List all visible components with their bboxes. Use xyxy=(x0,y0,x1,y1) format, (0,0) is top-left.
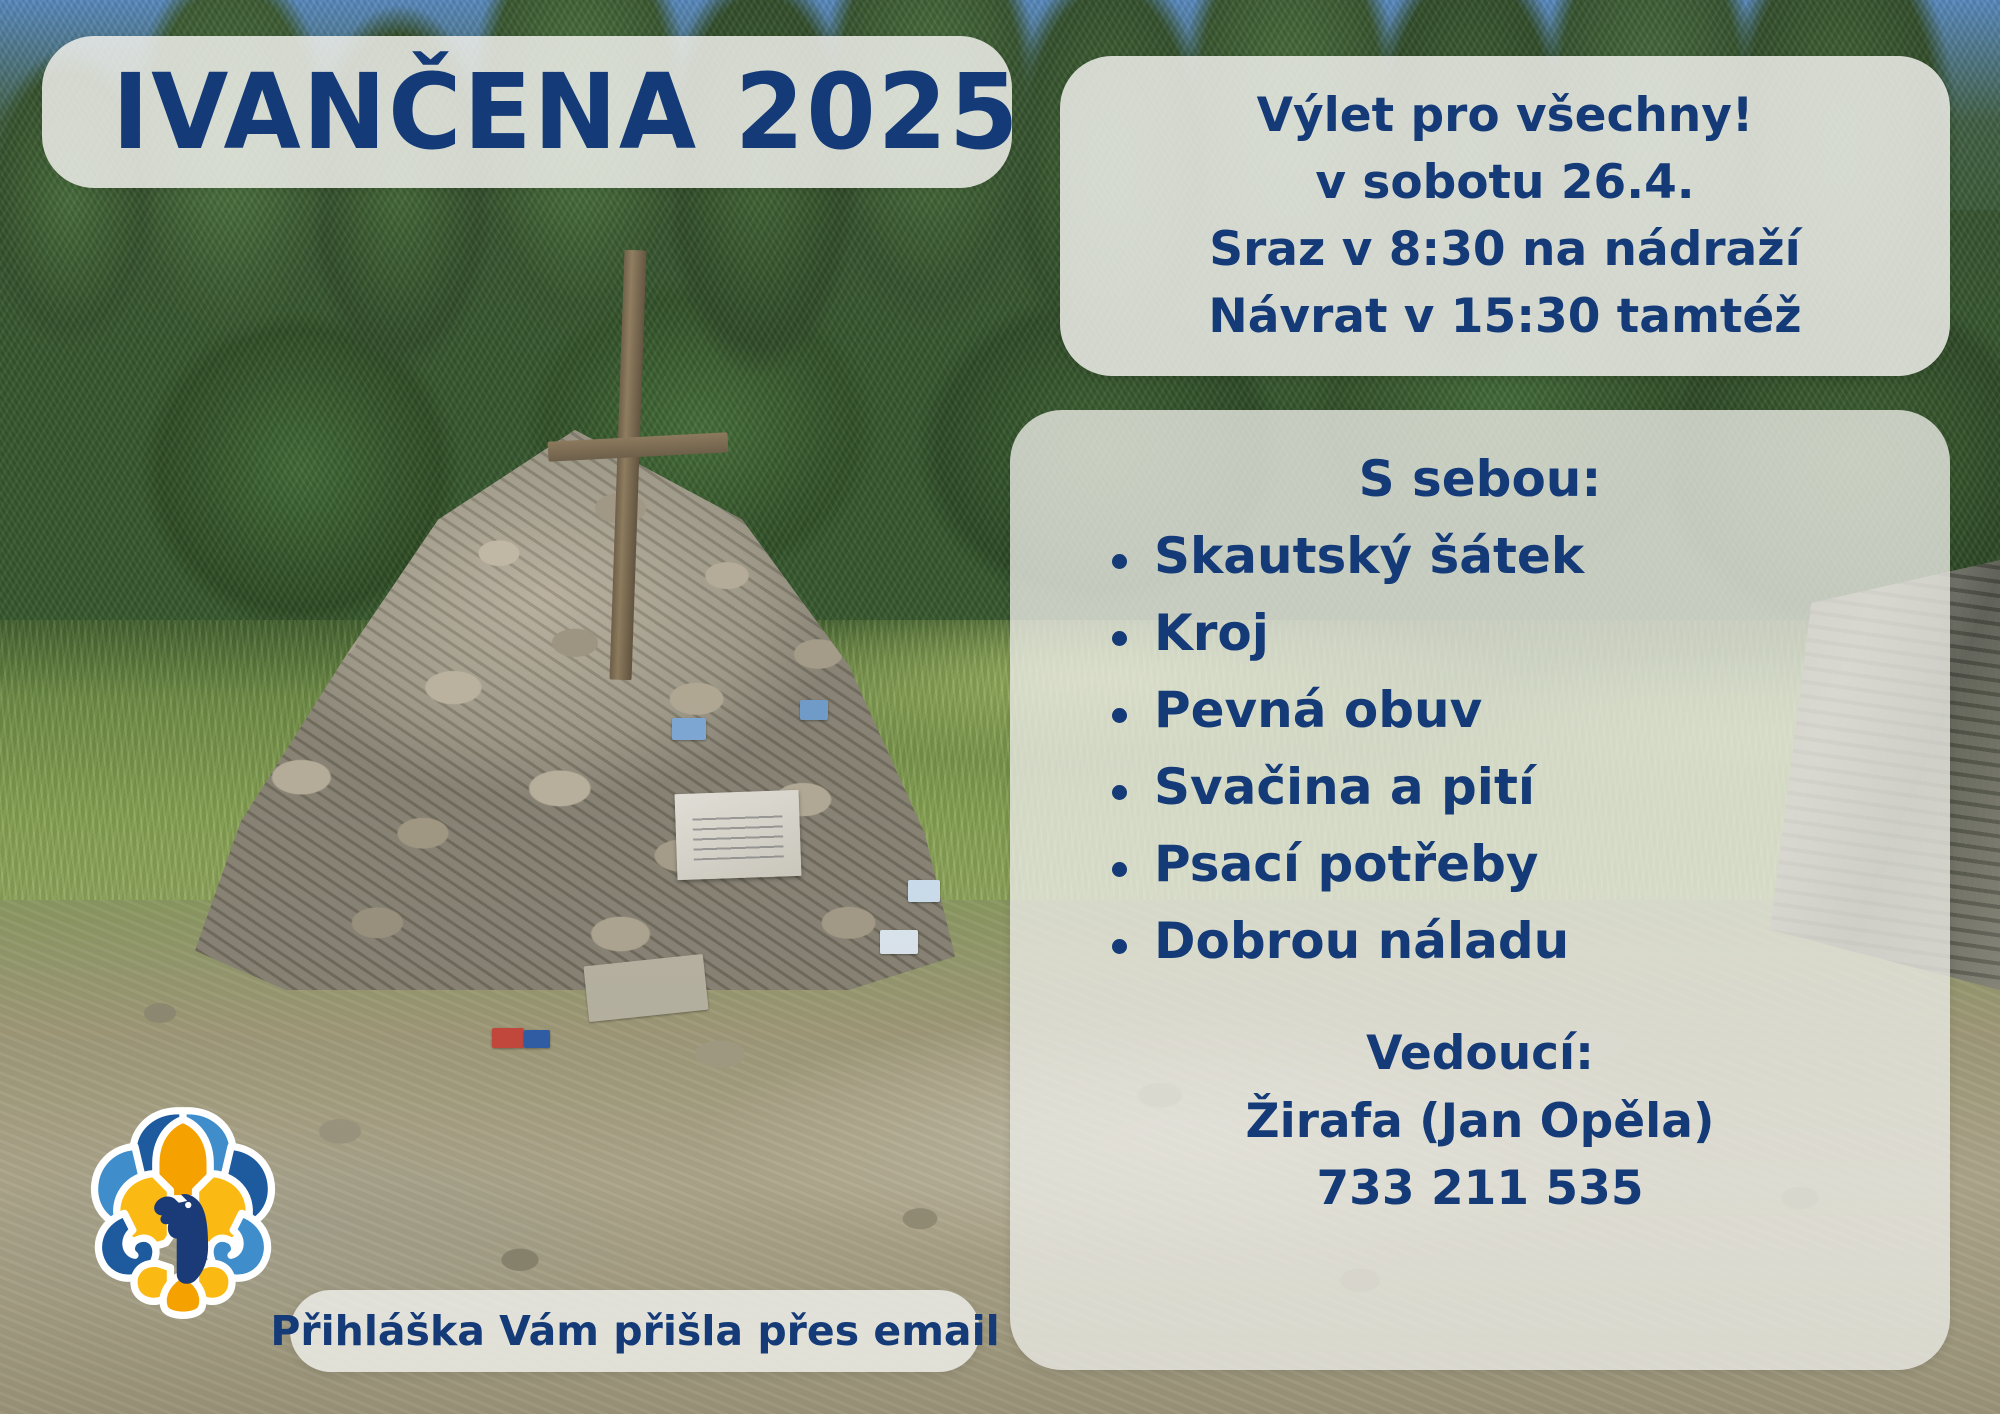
memorial-plaque xyxy=(675,790,802,880)
leader-name: Žirafa (Jan Opěla) xyxy=(1050,1088,1910,1156)
email-note-text: Přihláška Vám přišla přes email xyxy=(270,1307,999,1355)
list-item: Dobrou náladu xyxy=(1106,909,1584,974)
scout-lily-wolf-icon xyxy=(78,1090,288,1320)
info-line-return: Návrat v 15:30 tamtéž xyxy=(1208,286,1801,347)
poster-root: IVANČENA 2025 Výlet pro všechny! v sobot… xyxy=(0,0,2000,1414)
info-line-invitation: Výlet pro všechny! xyxy=(1257,85,1754,146)
packing-list-panel: S sebou: Skautský šátek Kroj Pevná obuv … xyxy=(1010,410,1950,1370)
info-line-meeting: Sraz v 8:30 na nádraží xyxy=(1209,219,1800,280)
votive-chip xyxy=(672,718,706,740)
list-item: Kroj xyxy=(1106,601,1584,666)
leader-phone[interactable]: 733 211 535 xyxy=(1050,1155,1910,1223)
email-note-panel: Přihláška Vám přišla přes email xyxy=(290,1290,980,1372)
list-item: Psací potřeby xyxy=(1106,832,1584,897)
list-item: Svačina a pití xyxy=(1106,755,1584,820)
packing-list: Skautský šátek Kroj Pevná obuv Svačina a… xyxy=(1050,524,1584,986)
leader-heading: Vedoucí: xyxy=(1050,1020,1910,1088)
leader-contact-block: Vedoucí: Žirafa (Jan Opěla) 733 211 535 xyxy=(1050,1020,1910,1223)
votive-chip xyxy=(524,1030,550,1048)
packing-list-heading: S sebou: xyxy=(1359,450,1602,508)
list-item: Skautský šátek xyxy=(1106,524,1584,589)
votive-chip xyxy=(492,1028,524,1048)
votive-chip xyxy=(880,930,918,954)
info-line-date: v sobotu 26.4. xyxy=(1315,152,1694,213)
wolf-eye-icon xyxy=(185,1202,191,1208)
page-title: IVANČENA 2025 xyxy=(112,51,1020,173)
list-item: Pevná obuv xyxy=(1106,678,1584,743)
votive-chip xyxy=(800,700,828,720)
junak-scout-logo xyxy=(78,1090,288,1320)
trip-info-panel: Výlet pro všechny! v sobotu 26.4. Sraz v… xyxy=(1060,56,1950,376)
title-panel: IVANČENA 2025 xyxy=(42,36,1012,188)
votive-chip xyxy=(908,880,940,902)
